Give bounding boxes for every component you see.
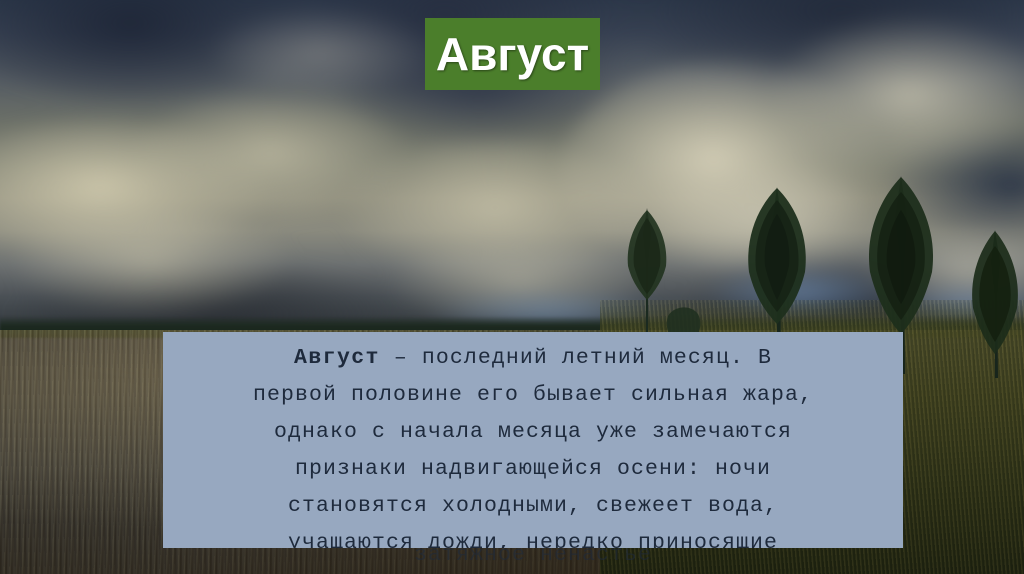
body-line-1: Август – последний летний месяц. В (163, 340, 903, 377)
body-line-2: первой половине его бывает сильная жара, (163, 377, 903, 414)
body-text-panel: Август – последний летний месяц. В перво… (163, 332, 903, 548)
body-line-5: становятся холодными, свежеет вода, (163, 488, 903, 525)
cloud-bright (200, 5, 440, 100)
body-line-1-rest: – последний летний месяц. В (394, 346, 772, 370)
lead-word: Август (294, 346, 380, 370)
slide-title-box: Август (425, 18, 600, 90)
body-line-6: учащаются дожди, нередко приносящие (163, 525, 903, 548)
clipped-text-remnant-line: затяжное ненастье (163, 548, 903, 574)
body-line-4: признаки надвигающейся осени: ночи (163, 451, 903, 488)
page-title: Август (436, 31, 589, 77)
birch-tree-icon (955, 228, 1024, 378)
cloud-bright (0, 210, 300, 320)
slide-canvas: Август Август – последний летний месяц. … (0, 0, 1024, 574)
body-line-3: однако с начала месяца уже замечаются (163, 414, 903, 451)
clipped-text-remnant: затяжное ненастье (163, 548, 903, 574)
